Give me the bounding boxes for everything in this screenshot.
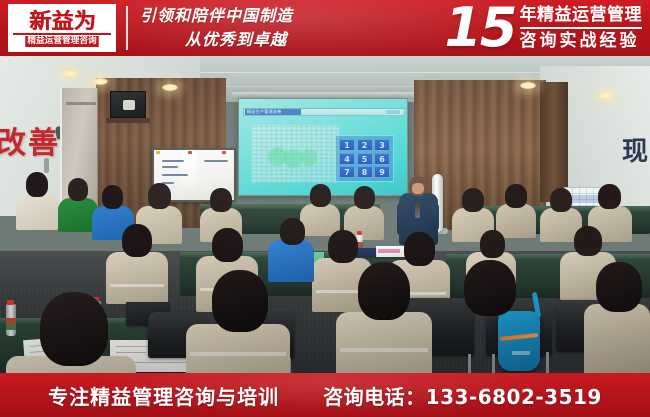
bottle-label <box>6 318 16 330</box>
uniform-reflective-stripe <box>340 348 428 352</box>
ceiling-downlight <box>162 84 178 91</box>
presenter-arm <box>429 202 439 232</box>
projection-screen: 精益生产管理改善 1 2 3 4 5 6 7 8 9 <box>238 98 408 196</box>
attendee-body-foreground <box>584 304 650 373</box>
ceiling-downlight <box>598 92 614 99</box>
whiteboard-writing <box>162 160 184 162</box>
header-slogan: 引领和陪伴中国制造 从优秀到卓越 <box>140 2 293 54</box>
door-top-bar <box>66 102 96 105</box>
years-divider-rule <box>520 27 643 29</box>
whiteboard-writing <box>162 174 188 176</box>
company-logo: 新益为 精益运营管理咨询 <box>8 4 116 52</box>
document-line <box>378 249 400 253</box>
slide-number-grid: 1 2 3 4 5 6 7 8 9 <box>335 135 394 182</box>
footer-slogan: 专注精益管理咨询与培训 <box>48 381 279 410</box>
document-line <box>116 352 146 353</box>
whiteboard-marker[interactable] <box>222 151 226 154</box>
slogan-line-2: 从优秀到卓越 <box>140 28 293 52</box>
document-line <box>116 346 150 347</box>
attendee-head <box>310 184 331 207</box>
header-vertical-divider <box>126 6 128 50</box>
number-cell: 9 <box>374 166 390 178</box>
attendee-head-foreground <box>596 262 642 312</box>
whiteboard-marker[interactable] <box>188 151 192 154</box>
whiteboard-glare <box>182 152 196 188</box>
microphone-icon <box>415 202 420 218</box>
slogan-line-1: 引领和陪伴中国制造 <box>140 4 293 28</box>
logo-divider-rule <box>13 33 111 35</box>
chair-leg <box>546 352 549 373</box>
attendee-head <box>328 230 358 263</box>
slide-diagram-image <box>251 125 339 183</box>
uniform-reflective-stripe <box>110 284 164 287</box>
number-cell: 7 <box>339 166 355 178</box>
whiteboard-marker[interactable] <box>156 151 160 154</box>
training-banner: 新益为 精益运营管理咨询 引领和陪伴中国制造 从优秀到卓越 15 年精益运营管理… <box>0 0 650 417</box>
header-experience-block: 15 年精益运营管理 咨询实战经验 <box>444 0 642 56</box>
number-cell: 1 <box>339 139 355 151</box>
whiteboard-writing <box>204 160 228 162</box>
footer-phone[interactable]: 咨询电话：133-6802-3519 <box>323 381 602 410</box>
ceiling-downlight <box>92 78 108 85</box>
attendee-head <box>598 184 621 209</box>
attendee-head <box>212 228 243 262</box>
attendee-head-foreground <box>464 260 516 316</box>
attendee-body <box>496 204 536 238</box>
attendee-head-foreground <box>40 292 108 366</box>
attendee-body <box>106 252 168 304</box>
footer-phone-number: 133-6802-3519 <box>426 385 602 409</box>
footer-phone-label: 咨询电话： <box>323 385 426 409</box>
years-text-block: 年精益运营管理 咨询实战经验 <box>520 4 643 52</box>
logo-brand-text: 新益为 <box>29 11 96 32</box>
attendee-head <box>26 172 48 197</box>
ceiling-downlight <box>62 70 78 77</box>
attendee-head <box>462 188 484 212</box>
attendee-head <box>102 185 123 209</box>
handout-document[interactable] <box>376 246 406 257</box>
attendee-head <box>550 188 572 212</box>
slide-toolbar-right <box>385 109 401 115</box>
whiteboard-writing <box>162 166 178 168</box>
classroom-photo: 改善 现 <box>0 56 650 373</box>
number-cell: 5 <box>357 153 373 165</box>
attendee-head <box>354 186 375 209</box>
years-line-1: 年精益运营管理 <box>520 4 643 26</box>
wall-slogan-right: 现 <box>622 131 648 168</box>
attendee-head <box>480 230 505 258</box>
bottle-cap <box>7 300 14 305</box>
number-cell: 2 <box>357 139 373 151</box>
ceiling-downlight <box>520 82 536 89</box>
number-cell: 6 <box>374 153 390 165</box>
attendee-head <box>505 184 527 208</box>
speaker-grill <box>123 100 135 110</box>
number-cell: 3 <box>374 139 390 151</box>
attendee-head <box>574 226 602 256</box>
attendee-head <box>122 224 152 257</box>
header-bar: 新益为 精益运营管理咨询 引领和陪伴中国制造 从优秀到卓越 15 年精益运营管理… <box>0 0 650 56</box>
number-cell: 8 <box>357 166 373 178</box>
attendee-head <box>148 183 171 209</box>
footer-bar: 专注精益管理咨询与培训 咨询电话：133-6802-3519 <box>0 373 650 417</box>
attendee-head <box>68 178 88 201</box>
bottle-cap <box>357 231 362 235</box>
wood-wall-strip <box>540 82 568 202</box>
years-line-2: 咨询实战经验 <box>520 30 643 52</box>
door-handle[interactable] <box>44 158 49 173</box>
attendee-body-foreground <box>336 312 432 373</box>
logo-tagline-text: 精益运营管理咨询 <box>25 36 98 47</box>
uniform-reflective-stripe <box>190 352 286 356</box>
attendee-head-foreground <box>212 270 268 332</box>
attendee-body-foreground <box>440 306 532 373</box>
slide-title-text: 精益生产管理改善 <box>247 109 281 115</box>
attendee-head-foreground <box>358 262 410 320</box>
number-cell: 4 <box>339 153 355 165</box>
speaker-shelf <box>106 118 150 123</box>
attendee-head <box>280 218 305 245</box>
wall-slogan-left: 改善 <box>0 118 60 162</box>
attendee-head <box>404 232 435 266</box>
years-number: 15 <box>444 1 515 55</box>
wall-speaker <box>110 91 146 118</box>
attendee-body-blue <box>268 240 314 282</box>
attendee-head <box>210 188 232 212</box>
attendee-body <box>16 194 58 230</box>
presenter-face <box>412 183 424 194</box>
